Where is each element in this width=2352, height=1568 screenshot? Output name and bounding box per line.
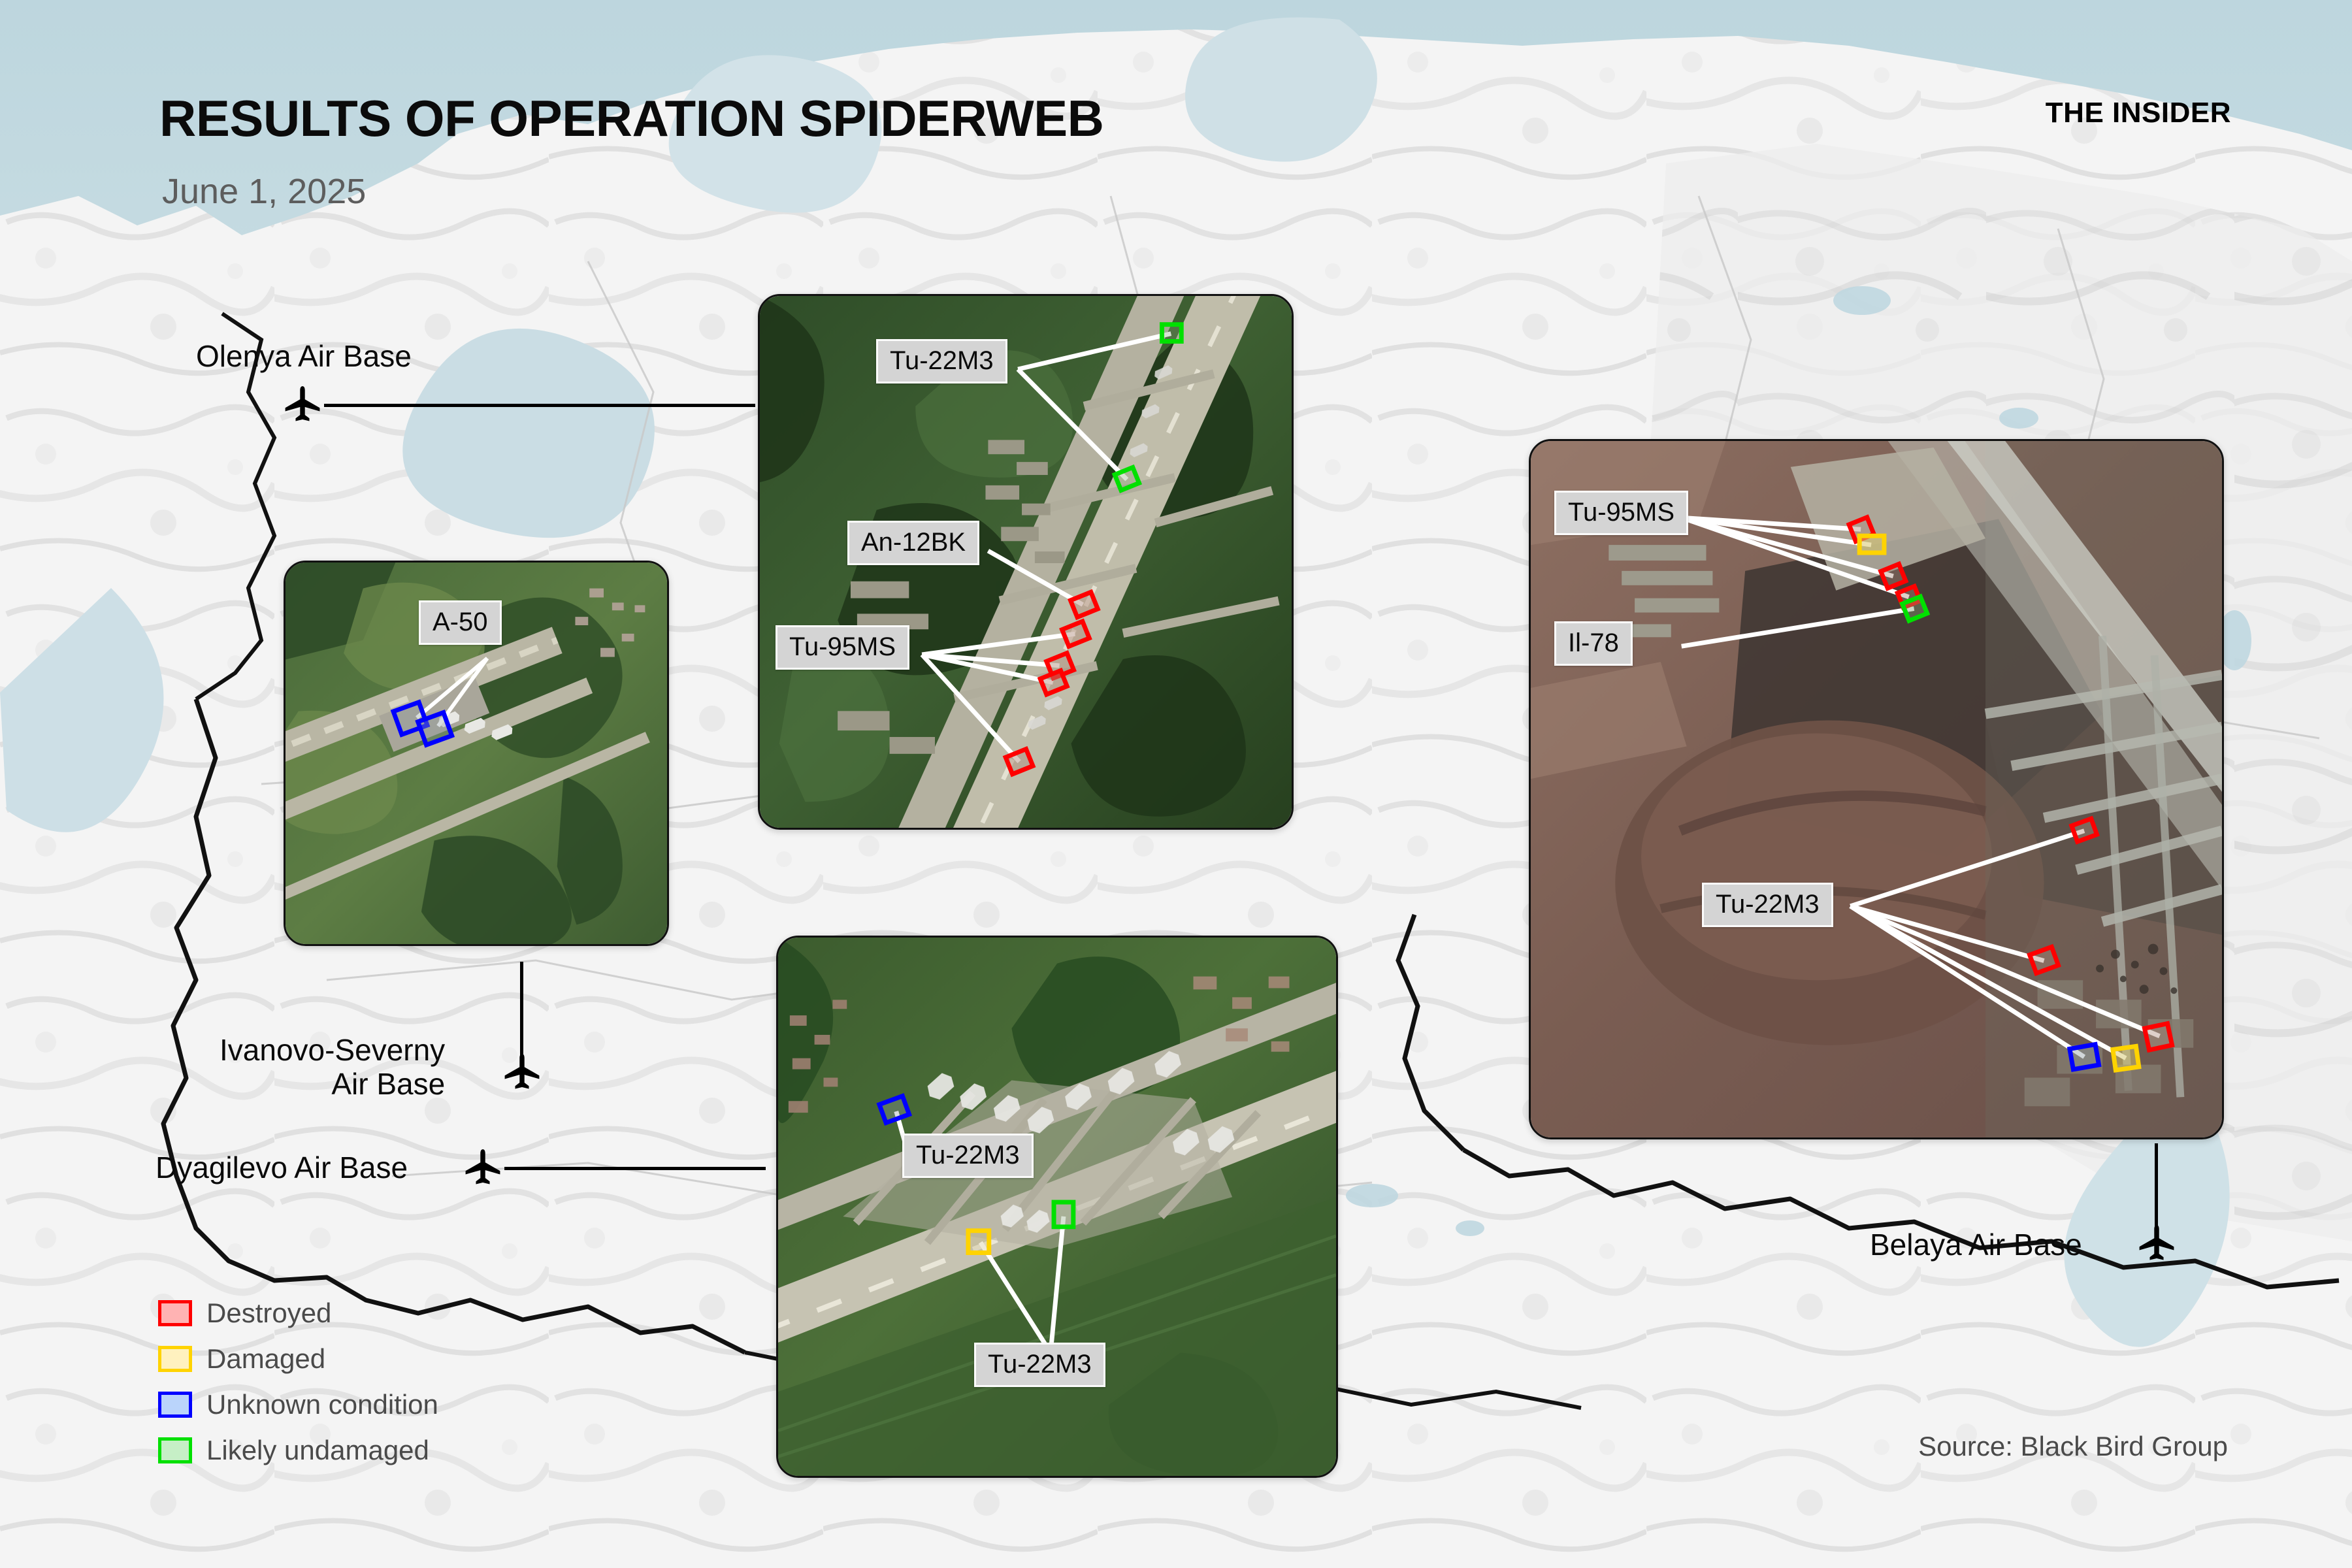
inset-olenya[interactable]: Tu-22M3 An-12BK Tu-95MS — [758, 294, 1294, 830]
marker-il78-belaya — [1903, 596, 1927, 621]
aircraft-chip-tu22m3-belaya[interactable]: Tu-22M3 — [1702, 883, 1833, 927]
legend-swatch-undamaged — [158, 1437, 192, 1463]
base-label-dyagilevo: Dyagilevo Air Base — [155, 1151, 408, 1185]
marker-tu95ms-olenya-1 — [1062, 621, 1090, 646]
legend-item-damaged: Damaged — [158, 1336, 438, 1382]
marker-tu22m3-belaya-2 — [2030, 947, 2059, 973]
airplane-icon-dyagilevo — [461, 1147, 504, 1190]
marker-tu22m3-dyagilevo-2 — [968, 1231, 989, 1253]
marker-tu22m3-belaya-1 — [2072, 819, 2097, 841]
aircraft-chip-tu22m3-olenya[interactable]: Tu-22M3 — [876, 339, 1007, 384]
legend-label-destroyed: Destroyed — [206, 1298, 331, 1329]
legend-item-unknown: Unknown condition — [158, 1382, 438, 1428]
inset-dyagilevo[interactable]: Tu-22M3 Tu-22M3 — [776, 936, 1338, 1478]
marker-tu95ms-belaya-2 — [1859, 536, 1884, 553]
marker-tu22m3-dyagilevo-1 — [879, 1096, 909, 1123]
base-label-belaya-text: Belaya Air Base — [1870, 1228, 2082, 1262]
annotation-overlay-olenya — [760, 296, 1292, 828]
base-label-olenya: Olenya Air Base — [196, 340, 412, 374]
legend-swatch-destroyed — [158, 1300, 192, 1326]
legend-label-damaged: Damaged — [206, 1343, 325, 1375]
legend-label-undamaged: Likely undamaged — [206, 1435, 429, 1466]
annotation-overlay-belaya — [1531, 441, 2222, 1137]
aircraft-chip-tu95ms-belaya[interactable]: Tu-95MS — [1554, 491, 1688, 535]
page-title: RESULTS OF OPERATION SPIDERWEB — [159, 89, 1103, 148]
leader-line-belaya — [2155, 1143, 2158, 1232]
legend-swatch-damaged — [158, 1346, 192, 1372]
legend-swatch-unknown — [158, 1392, 192, 1418]
leader-line-ivanovo — [520, 962, 523, 1058]
base-label-belaya: Belaya Air Base — [1870, 1228, 2082, 1262]
aircraft-chip-tu22m3-dyagilevo-upper[interactable]: Tu-22M3 — [902, 1134, 1034, 1178]
legend: Destroyed Damaged Unknown condition Like… — [158, 1290, 438, 1473]
marker-tu22m3-belaya-5 — [2070, 1045, 2099, 1070]
marker-tu22m3-dyagilevo-3 — [1054, 1202, 1073, 1227]
marker-tu22m3-belaya-4 — [2113, 1046, 2139, 1070]
base-label-ivanovo-line2: Air Base — [331, 1068, 445, 1102]
leader-line-dyagilevo — [504, 1167, 766, 1170]
aircraft-chip-a50[interactable]: A-50 — [419, 600, 502, 645]
inset-belaya[interactable]: Tu-95MS Il-78 Tu-22M3 — [1529, 439, 2224, 1139]
marker-tu22m3-olenya-1 — [1162, 325, 1181, 342]
base-label-olenya-text: Olenya Air Base — [196, 340, 412, 374]
page-date: June 1, 2025 — [162, 171, 366, 212]
aircraft-chip-an12bk-olenya[interactable]: An-12BK — [847, 521, 979, 565]
base-label-ivanovo: Ivanovo-Severny Air Base — [220, 1034, 445, 1101]
source-attribution: Source: Black Bird Group — [1918, 1431, 2228, 1462]
marker-tu22m3-belaya-3 — [2145, 1024, 2172, 1051]
aircraft-chip-tu22m3-dyagilevo-lower[interactable]: Tu-22M3 — [974, 1343, 1105, 1387]
base-label-ivanovo-line1: Ivanovo-Severny — [220, 1034, 445, 1068]
annotation-overlay-dyagilevo — [778, 938, 1336, 1476]
aircraft-chip-tu95ms-olenya[interactable]: Tu-95MS — [776, 625, 909, 670]
legend-label-unknown: Unknown condition — [206, 1389, 438, 1420]
publisher-logo: THE INSIDER — [2046, 97, 2231, 129]
base-label-dyagilevo-text: Dyagilevo Air Base — [155, 1151, 408, 1185]
legend-item-undamaged: Likely undamaged — [158, 1428, 438, 1473]
leader-line-olenya — [324, 404, 755, 407]
marker-an12bk-olenya — [1070, 592, 1098, 617]
infographic-root: RESULTS OF OPERATION SPIDERWEB June 1, 2… — [0, 0, 2352, 1568]
marker-tu95ms-belaya-3 — [1881, 564, 1906, 588]
marker-tu95ms-olenya-3 — [1040, 670, 1067, 694]
marker-tu22m3-olenya-2 — [1115, 467, 1139, 490]
airplane-icon-olenya — [281, 384, 324, 427]
legend-item-destroyed: Destroyed — [158, 1290, 438, 1336]
aircraft-chip-il78-belaya[interactable]: Il-78 — [1554, 621, 1633, 666]
inset-ivanovo-severny[interactable]: A-50 — [284, 561, 669, 946]
